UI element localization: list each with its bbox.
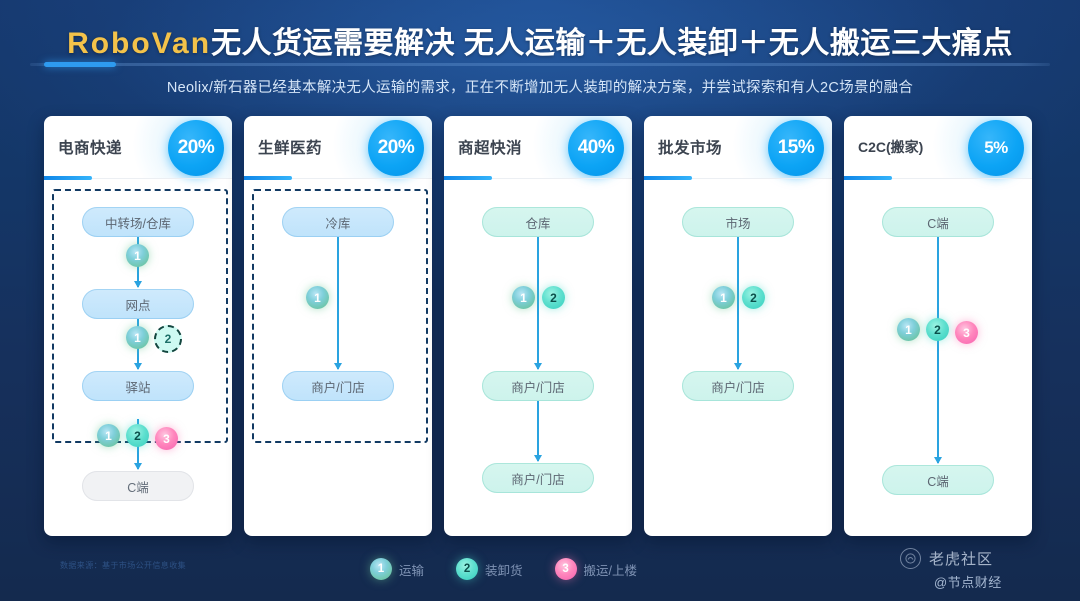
percent-badge: 5% xyxy=(968,120,1024,176)
page-subtitle: Neolix/新石器已经基本解决无人运输的需求，正在不断增加无人装卸的解决方案，… xyxy=(0,76,1080,97)
flow-diagram: 冷库 1 商户/门店 xyxy=(244,179,432,536)
flow-node: 冷库 xyxy=(282,207,394,237)
card-header: 生鲜医药 20% xyxy=(244,116,432,179)
tiger-logo-icon xyxy=(900,548,921,569)
connector xyxy=(937,237,939,463)
step-badge: 1 xyxy=(512,286,535,309)
percent-badge: 20% xyxy=(168,120,224,176)
legend-label: 装卸货 xyxy=(485,560,523,579)
step-badge: 2 xyxy=(126,424,149,447)
card-title: 电商快递 xyxy=(58,136,122,158)
card-wholesale: 批发市场 15% 市场 1 2 商户/门店 xyxy=(644,116,832,536)
card-title: 生鲜医药 xyxy=(258,136,322,158)
watermark-handle: @节点财经 xyxy=(934,572,1002,591)
step-badge-optional: 2 xyxy=(154,325,182,353)
title-divider-accent xyxy=(44,62,116,67)
legend-item: 2 装卸货 xyxy=(456,558,523,580)
flow-node: 网点 xyxy=(82,289,194,319)
connector-arrow xyxy=(934,457,942,464)
flow-diagram: 中转场/仓库 1 网点 1 2 驿站 1 2 3 C端 xyxy=(44,179,232,536)
legend-badge-2: 2 xyxy=(456,558,478,580)
legend-label: 运输 xyxy=(399,560,424,579)
flow-node: 商户/门店 xyxy=(682,371,794,401)
card-header: 电商快递 20% xyxy=(44,116,232,179)
card-c2c: C2C(搬家) 5% C端 1 2 3 C端 xyxy=(844,116,1032,536)
source-footnote: 数据来源：基于市场公开信息收集 xyxy=(60,560,186,571)
step-badge: 3 xyxy=(155,427,178,450)
percent-badge: 15% xyxy=(768,120,824,176)
page-title: RoboVan无人货运需要解决 无人运输＋无人装卸＋无人搬运三大痛点 xyxy=(0,18,1080,62)
percent-badge: 40% xyxy=(568,120,624,176)
flow-node: 仓库 xyxy=(482,207,594,237)
connector-arrow xyxy=(534,455,542,462)
card-header: C2C(搬家) 5% xyxy=(844,116,1032,179)
flow-node: 驿站 xyxy=(82,371,194,401)
step-badge: 2 xyxy=(742,286,765,309)
legend-item: 1 运输 xyxy=(370,558,424,580)
connector xyxy=(537,237,539,369)
title-brand: RoboVan xyxy=(67,27,211,60)
card-title: 批发市场 xyxy=(658,136,722,158)
card-title: C2C(搬家) xyxy=(858,137,923,157)
flow-node: C端 xyxy=(882,207,994,237)
connector-arrow xyxy=(134,363,142,370)
legend-badge-1: 1 xyxy=(370,558,392,580)
card-supermarket: 商超快消 40% 仓库 1 2 商户/门店 商户/门店 xyxy=(444,116,632,536)
flow-node: 商户/门店 xyxy=(282,371,394,401)
connector xyxy=(537,401,539,461)
watermark-site-label: 老虎社区 xyxy=(929,548,993,569)
legend-badge-3: 3 xyxy=(555,558,577,580)
flow-node: C端 xyxy=(882,465,994,495)
card-title: 商超快消 xyxy=(458,136,522,158)
connector-arrow xyxy=(334,363,342,370)
legend-label: 搬运/上楼 xyxy=(584,560,637,579)
flow-node: 商户/门店 xyxy=(482,371,594,401)
watermark-site: 老虎社区 xyxy=(900,548,993,569)
flow-node: 商户/门店 xyxy=(482,463,594,493)
card-header: 商超快消 40% xyxy=(444,116,632,179)
step-badge: 1 xyxy=(897,318,920,341)
legend-item: 3 搬运/上楼 xyxy=(555,558,637,580)
step-badge: 3 xyxy=(955,321,978,344)
flow-node: 中转场/仓库 xyxy=(82,207,194,237)
slide-header: RoboVan无人货运需要解决 无人运输＋无人装卸＋无人搬运三大痛点 Neoli… xyxy=(0,0,1080,112)
step-badge: 1 xyxy=(712,286,735,309)
connector xyxy=(737,237,739,369)
flow-node: C端 xyxy=(82,471,194,501)
step-badge: 1 xyxy=(97,424,120,447)
title-divider xyxy=(30,63,1050,66)
percent-badge: 20% xyxy=(368,120,424,176)
card-ecommerce: 电商快递 20% 中转场/仓库 1 网点 1 2 驿站 1 xyxy=(44,116,232,536)
connector-arrow xyxy=(534,363,542,370)
flow-diagram: 市场 1 2 商户/门店 xyxy=(644,179,832,536)
step-badge: 2 xyxy=(542,286,565,309)
card-header: 批发市场 15% xyxy=(644,116,832,179)
connector-arrow xyxy=(734,363,742,370)
step-badge: 1 xyxy=(126,244,149,267)
connector-arrow xyxy=(134,281,142,288)
flow-diagram: 仓库 1 2 商户/门店 商户/门店 xyxy=(444,179,632,536)
connector-arrow xyxy=(134,463,142,470)
slide-root: RoboVan无人货运需要解决 无人运输＋无人装卸＋无人搬运三大痛点 Neoli… xyxy=(0,0,1080,601)
connector xyxy=(337,237,339,369)
card-row: 电商快递 20% 中转场/仓库 1 网点 1 2 驿站 1 xyxy=(44,116,1044,536)
legend: 1 运输 2 装卸货 3 搬运/上楼 xyxy=(370,558,659,580)
flow-diagram: C端 1 2 3 C端 xyxy=(844,179,1032,536)
step-badge: 1 xyxy=(126,326,149,349)
step-badge: 2 xyxy=(926,318,949,341)
flow-node: 市场 xyxy=(682,207,794,237)
step-badge: 1 xyxy=(306,286,329,309)
card-fresh-pharma: 生鲜医药 20% 冷库 1 商户/门店 xyxy=(244,116,432,536)
title-rest: 无人货运需要解决 无人运输＋无人装卸＋无人搬运三大痛点 xyxy=(211,27,1013,60)
